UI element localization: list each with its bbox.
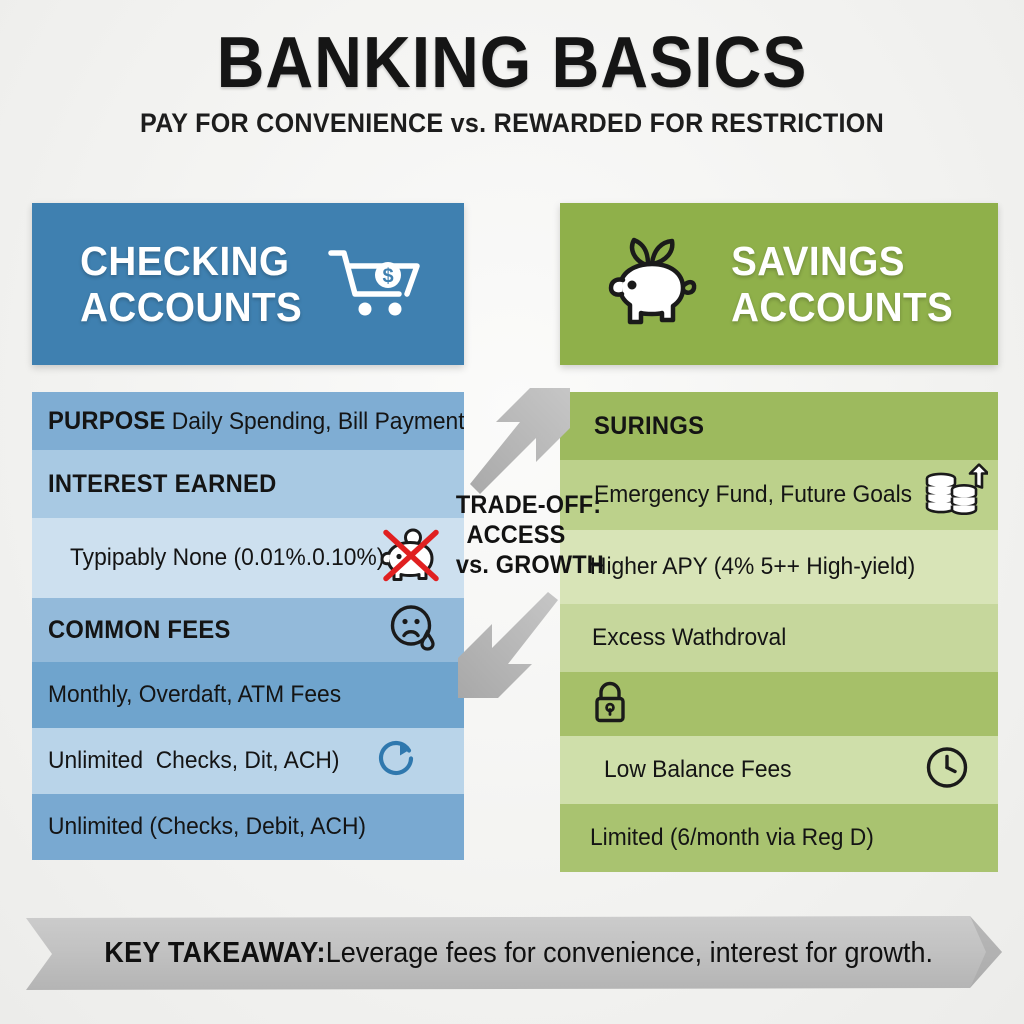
row-text: PURPOSE Daily Spending, Bill Payments bbox=[48, 407, 464, 436]
piggy-bank-crossed-out-icon bbox=[380, 527, 442, 590]
savings-rows: SURINGS Emergency Fund, Future Goals bbox=[560, 392, 998, 872]
key-takeaway-text: KEY TAKEAWAY: Leverage fees for convenie… bbox=[60, 916, 968, 990]
sad-face-tear-icon bbox=[388, 603, 438, 658]
refresh-icon[interactable] bbox=[376, 738, 418, 785]
row-value: Emergency Fund, Future Goals bbox=[594, 481, 912, 509]
row-text: Unlimited Checks, Dit, ACH) bbox=[48, 747, 339, 775]
key-takeaway-banner: KEY TAKEAWAY: Leverage fees for convenie… bbox=[26, 916, 1002, 990]
tradeoff-callout: TRADE-OFF: ACCESS vs. GROWTH bbox=[452, 490, 580, 580]
table-row[interactable]: INTEREST EARNED bbox=[32, 450, 464, 518]
subtitle-post: REWARDED FOR RESTRICTION bbox=[486, 108, 884, 138]
row-label: INTEREST EARNED bbox=[48, 470, 277, 498]
shopping-cart-dollar-icon: $ bbox=[327, 244, 423, 325]
clock-icon bbox=[924, 745, 970, 796]
table-row[interactable]: Typipably None (0.01%.0.10%) bbox=[32, 518, 464, 598]
table-row[interactable]: COMMON FEES bbox=[32, 598, 464, 662]
table-row[interactable]: Monthly, Overdaft, ATM Fees bbox=[32, 662, 464, 728]
table-row[interactable]: Unlimited (Checks, Debit, ACH) bbox=[32, 794, 464, 860]
table-row[interactable]: Emergency Fund, Future Goals bbox=[560, 460, 998, 530]
subtitle-vs: vs. bbox=[451, 108, 487, 138]
page-subtitle: PAY FOR CONVENIENCE vs. REWARDED FOR RES… bbox=[36, 108, 988, 138]
row-label: SURINGS bbox=[594, 412, 704, 440]
table-row[interactable]: Higher APY (4% 5++ High-yield) bbox=[560, 530, 998, 604]
table-row[interactable]: Unlimited Checks, Dit, ACH) bbox=[32, 728, 464, 794]
table-row[interactable]: Excess Wathdroval bbox=[560, 604, 998, 672]
checking-header-title: CHECKING ACCOUNTS bbox=[80, 238, 302, 330]
savings-column-header[interactable]: SAVINGS ACCOUNTS bbox=[560, 203, 998, 365]
table-row[interactable]: PURPOSE Daily Spending, Bill Payments bbox=[32, 392, 464, 450]
row-label: COMMON FEES bbox=[48, 616, 231, 644]
piggy-bank-sprout-icon bbox=[598, 230, 706, 339]
savings-header-title: SAVINGS ACCOUNTS bbox=[731, 238, 953, 330]
title-block: BANKING BASICS PAY FOR CONVENIENCE vs. R… bbox=[0, 24, 1024, 138]
tradeoff-line-1: TRADE-OFF: bbox=[456, 490, 576, 520]
row-value: Checks, Dit, ACH) bbox=[156, 747, 340, 774]
row-value: Excess Wathdroval bbox=[592, 624, 786, 652]
key-takeaway-body: Leverage fees for convenience, interest … bbox=[326, 936, 933, 970]
row-value: Higher APY (4% 5++ High-yield) bbox=[590, 553, 915, 581]
tradeoff-line-3: vs. GROWTH bbox=[456, 550, 576, 580]
row-value: Typipably None (0.01%.0.10%) bbox=[70, 544, 384, 572]
table-row[interactable]: Low Balance Fees bbox=[560, 736, 998, 804]
row-value: Low Balance Fees bbox=[604, 756, 792, 784]
arrow-up-right-icon bbox=[466, 388, 578, 501]
lock-icon bbox=[590, 679, 630, 730]
arrow-down-left-icon bbox=[452, 592, 564, 705]
row-label: Unlimited bbox=[48, 747, 143, 774]
table-row[interactable] bbox=[560, 672, 998, 736]
checking-rows: PURPOSE Daily Spending, Bill Payments IN… bbox=[32, 392, 464, 860]
row-value: Monthly, Overdaft, ATM Fees bbox=[48, 681, 341, 709]
key-takeaway-label: KEY TAKEAWAY: bbox=[104, 936, 325, 970]
row-value: Limited (6/month via Reg D) bbox=[590, 824, 874, 852]
coin-stack-growth-icon bbox=[924, 464, 988, 527]
svg-text:$: $ bbox=[383, 265, 394, 287]
table-row[interactable]: Limited (6/month via Reg D) bbox=[560, 804, 998, 872]
infographic-page: BANKING BASICS PAY FOR CONVENIENCE vs. R… bbox=[0, 0, 1024, 1024]
table-row[interactable]: SURINGS bbox=[560, 392, 998, 460]
subtitle-pre: PAY FOR CONVENIENCE bbox=[140, 108, 451, 138]
page-title: BANKING BASICS bbox=[41, 24, 983, 102]
row-label: PURPOSE bbox=[48, 407, 165, 435]
checking-column-header[interactable]: CHECKING ACCOUNTS $ bbox=[32, 203, 464, 365]
row-value: Unlimited (Checks, Debit, ACH) bbox=[48, 813, 366, 841]
tradeoff-line-2: ACCESS bbox=[456, 520, 576, 550]
row-value: Daily Spending, Bill Payments bbox=[172, 408, 464, 435]
